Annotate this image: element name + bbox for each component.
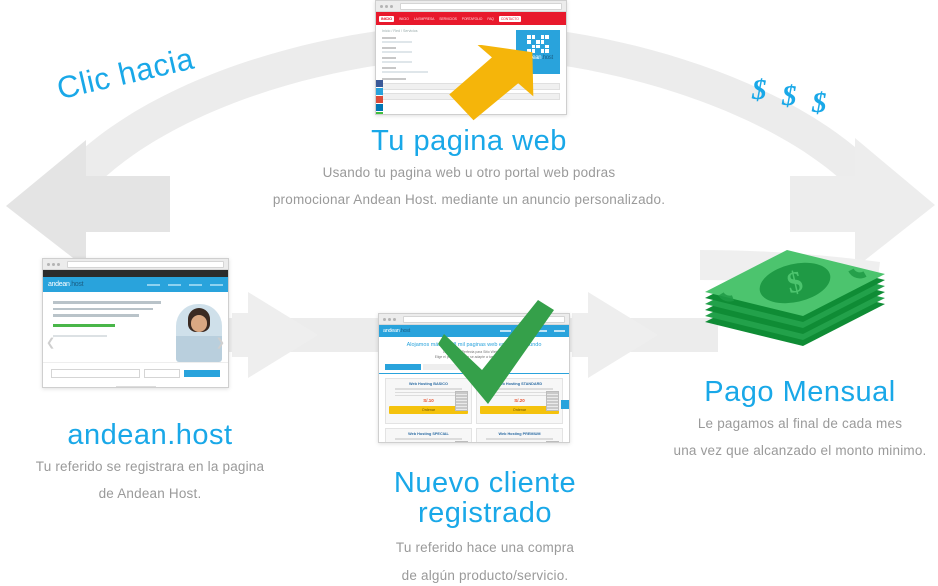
step-title-newclient-line2: registrado	[345, 498, 625, 528]
browser-chrome	[43, 259, 228, 270]
logo-name: andean	[383, 328, 400, 334]
plan-feature	[395, 442, 462, 443]
caption-block-payment: Pago Mensual Le pagamos al final de cada…	[650, 377, 938, 461]
nav-item-inicio[interactable]: INICIO	[399, 17, 409, 21]
caption-block-newclient: Nuevo cliente registrado Tu referido hac…	[345, 468, 625, 586]
green-checkmark-icon	[430, 300, 560, 410]
step-caption-line: Tu referido se registrara en la pagina	[0, 457, 300, 477]
window-dot	[385, 5, 388, 8]
window-dot	[393, 318, 396, 321]
window-dot	[390, 5, 393, 8]
server-icon	[546, 441, 559, 443]
facebook-icon[interactable]	[376, 80, 383, 87]
nav-item-portafolio[interactable]: PORTAFOLIO	[462, 17, 483, 21]
window-dot	[57, 263, 60, 266]
social-icon-column[interactable]	[376, 80, 383, 115]
money-bill-stack: $	[705, 250, 885, 346]
window-dot	[388, 318, 391, 321]
twitter-icon[interactable]	[376, 88, 383, 95]
step-caption-line: Le pagamos al final de cada mes	[650, 414, 938, 434]
nav-items[interactable]	[147, 284, 223, 286]
field-label	[382, 57, 396, 59]
plan-card[interactable]: Web Hosting SPECIAL S/.30 Ordenar	[385, 428, 472, 443]
hero-photo-person	[176, 304, 222, 362]
hero-link[interactable]	[53, 324, 115, 327]
domain-search-button[interactable]	[184, 370, 220, 377]
linkedin-icon[interactable]	[376, 104, 383, 111]
window-dot	[383, 318, 386, 321]
site-logo[interactable]: andean.host	[383, 328, 410, 334]
plan-feature	[486, 438, 553, 439]
field-label	[382, 37, 396, 39]
domain-search-bar[interactable]	[43, 362, 228, 384]
dollar-icon: $	[812, 87, 827, 120]
step-caption-line: promocionar Andean Host. mediante un anu…	[219, 190, 719, 210]
nav-item[interactable]	[168, 284, 181, 286]
site-navbar: andean.host	[43, 277, 228, 292]
step-title-webpage: Tu pagina web	[219, 126, 719, 156]
nav-item[interactable]	[189, 284, 202, 286]
address-bar[interactable]	[400, 3, 562, 10]
nav-item-servicios[interactable]: SERVICIOS	[439, 17, 457, 21]
site-logo[interactable]: andean.host	[48, 281, 83, 288]
hero-subtext	[53, 335, 107, 338]
yellow-pointer-arrow	[430, 45, 540, 125]
step-title-payment: Pago Mensual	[650, 377, 938, 407]
nav-item[interactable]	[210, 284, 223, 286]
nav-item[interactable]	[147, 284, 160, 286]
caption-block-andean: andean.host Tu referido se registrara en…	[0, 420, 300, 504]
step-caption-line: Tu referido hace una compra	[345, 538, 625, 558]
step-title-newclient-line1: Nuevo cliente	[345, 468, 625, 498]
dollar-signs-group: $ $ $	[750, 74, 860, 120]
whatsapp-icon[interactable]	[376, 112, 383, 115]
step-caption-line: Usando tu pagina web u otro portal web p…	[219, 163, 719, 183]
caption-block-webpage: Tu pagina web Usando tu pagina web u otr…	[219, 126, 719, 210]
referral-flow-infographic: Clic hacia $ $ $ INICIO INICIO LA EMPRES…	[0, 0, 938, 572]
plan-card[interactable]: Web Hosting PREMIUM S/.60 Ordenar	[476, 428, 563, 443]
field-label	[382, 47, 396, 49]
plan-name: Web Hosting PREMIUM	[480, 432, 559, 436]
browser-chrome	[376, 1, 566, 12]
field-value	[382, 71, 428, 73]
domain-search-input[interactable]	[51, 369, 140, 378]
site-topbar	[43, 270, 228, 277]
plan-name: Web Hosting SPECIAL	[389, 432, 468, 436]
step-caption-line: una vez que alcanzado el monto minimo.	[650, 441, 938, 461]
logo-name: andean	[48, 281, 70, 288]
tab-web-hosting[interactable]	[385, 364, 421, 370]
logo-suffix: .host	[400, 328, 410, 334]
site-logo[interactable]: INICIO	[379, 16, 394, 22]
field-label	[382, 67, 396, 69]
field-value	[382, 41, 412, 43]
plan-feature	[395, 438, 462, 439]
plan-feature	[486, 442, 553, 443]
arrow-home-to-plans	[228, 292, 398, 378]
logo-suffix: .host	[70, 281, 84, 288]
dollar-icon: $	[752, 74, 767, 107]
google-plus-icon[interactable]	[376, 96, 383, 103]
site-navbar: INICIO INICIO LA EMPRESA SERVICIOS PORTA…	[376, 12, 566, 25]
browser-mockup-andean-home[interactable]: andean.host ❮ ❯	[42, 258, 229, 388]
nav-item-faq[interactable]: FAQ	[487, 17, 493, 21]
step-caption-line: de algún producto/servicio.	[345, 566, 625, 586]
nav-item-contacto[interactable]: CONTACTO	[499, 16, 521, 22]
step-caption-line: de Andean Host.	[0, 484, 300, 504]
window-dot	[52, 263, 55, 266]
nav-item-la-empresa[interactable]: LA EMPRESA	[414, 17, 434, 21]
address-bar[interactable]	[67, 261, 224, 268]
form-heading	[382, 78, 406, 80]
hero-section: ❮ ❯	[43, 292, 228, 362]
window-dot	[380, 5, 383, 8]
step-title-andean: andean.host	[0, 420, 300, 450]
field-value	[382, 51, 412, 53]
money-stack-illustration: $	[695, 246, 895, 356]
server-icon	[455, 441, 468, 443]
hero-text-line	[53, 314, 139, 317]
window-dot	[47, 263, 50, 266]
carousel-prev-icon[interactable]: ❮	[46, 336, 55, 349]
field-value	[382, 61, 412, 63]
hero-text-line	[53, 301, 161, 304]
hero-text-line	[53, 308, 153, 311]
domain-tld-select[interactable]	[144, 369, 180, 378]
dollar-icon: $	[782, 80, 797, 113]
logo-suffix: .host	[541, 55, 553, 61]
view-plans-button[interactable]	[116, 386, 156, 388]
chat-widget-button[interactable]	[561, 400, 570, 409]
carousel-next-icon[interactable]: ❯	[216, 336, 225, 349]
